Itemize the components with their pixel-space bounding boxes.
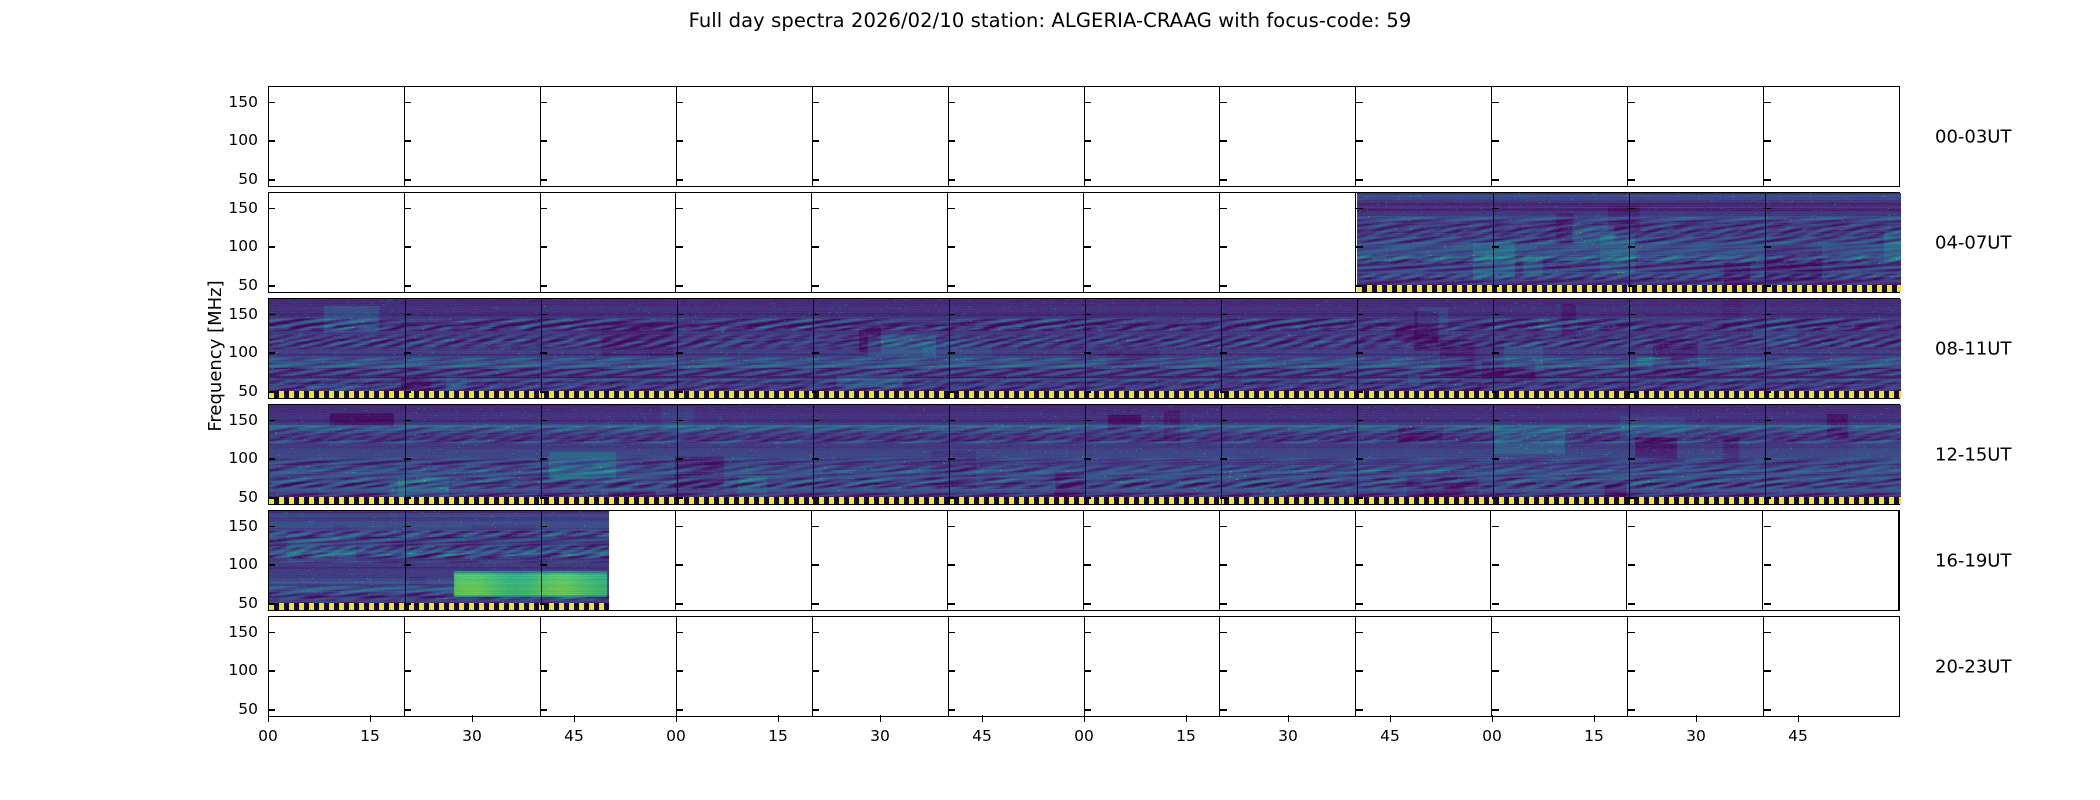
row-label-08-11ut: 08-11UT	[1935, 338, 2011, 359]
y-tick	[1084, 140, 1091, 141]
y-tick	[1628, 285, 1635, 286]
y-tick	[1356, 670, 1363, 671]
x-tick-label: 00	[1482, 727, 1502, 745]
y-tick	[948, 497, 955, 498]
x-tick-label: 30	[462, 727, 482, 745]
y-tick	[404, 420, 411, 421]
x-tick-label: 15	[1176, 727, 1196, 745]
row-label-00-03ut: 00-03UT	[1935, 126, 2011, 147]
y-tick	[1492, 526, 1499, 527]
spectrogram-row-04-07ut[interactable]	[268, 192, 1900, 293]
y-tick	[1084, 632, 1091, 633]
panel[interactable]	[1492, 87, 1628, 186]
y-tick	[1764, 458, 1771, 459]
y-tick	[1084, 526, 1091, 527]
x-tick	[1288, 715, 1289, 722]
y-tick	[1084, 102, 1091, 103]
y-tick	[404, 179, 411, 180]
y-tick	[676, 458, 683, 459]
y-tick	[1220, 246, 1227, 247]
x-tick	[1492, 715, 1493, 722]
y-tick	[540, 391, 547, 392]
y-tick-label: 50	[198, 700, 258, 718]
y-tick	[1628, 179, 1635, 180]
y-tick	[540, 526, 547, 527]
panel[interactable]	[1356, 511, 1492, 610]
y-tick	[1356, 352, 1363, 353]
y-tick	[1356, 140, 1363, 141]
panel[interactable]	[541, 193, 677, 292]
y-tick	[1356, 420, 1363, 421]
y-tick	[1084, 458, 1091, 459]
y-tick	[1628, 352, 1635, 353]
y-tick	[1356, 603, 1363, 604]
x-axis: 00153045001530450015304500153045	[268, 722, 1900, 762]
y-tick	[1628, 420, 1635, 421]
y-tick	[1492, 246, 1499, 247]
y-tick	[1356, 632, 1363, 633]
y-tick	[812, 458, 819, 459]
y-tick	[1764, 102, 1771, 103]
panel[interactable]	[541, 87, 677, 186]
y-tick	[948, 352, 955, 353]
x-tick	[676, 715, 677, 722]
panel[interactable]	[677, 87, 813, 186]
y-tick	[948, 709, 955, 710]
y-tick-label: 50	[198, 594, 258, 612]
y-tick	[540, 497, 547, 498]
status-ribbon	[269, 603, 609, 610]
x-tick	[1084, 715, 1085, 722]
spectrogram-row-00-03ut[interactable]	[268, 86, 1900, 187]
y-tick	[268, 391, 275, 392]
y-tick	[540, 709, 547, 710]
panel[interactable]	[676, 511, 812, 610]
y-tick	[676, 352, 683, 353]
y-tick	[404, 246, 411, 247]
y-tick	[1220, 670, 1227, 671]
y-tick	[1628, 603, 1635, 604]
y-tick	[1356, 458, 1363, 459]
y-tick	[812, 352, 819, 353]
y-tick	[1084, 314, 1091, 315]
y-tick	[1220, 564, 1227, 565]
y-tick	[1492, 458, 1499, 459]
spectrogram-row-12-15ut[interactable]	[268, 404, 1900, 505]
y-tick	[540, 140, 547, 141]
y-tick	[1628, 564, 1635, 565]
y-tick	[676, 526, 683, 527]
x-tick	[982, 715, 983, 722]
y-tick-label: 50	[198, 488, 258, 506]
y-tick-label: 100	[198, 343, 258, 361]
y-tick-label: 150	[198, 411, 258, 429]
y-tick	[1764, 497, 1771, 498]
y-tick	[268, 458, 275, 459]
y-tick	[676, 603, 683, 604]
row-label-16-19ut: 16-19UT	[1935, 550, 2011, 571]
y-tick	[268, 314, 275, 315]
panel[interactable]	[1084, 193, 1220, 292]
panel[interactable]	[1627, 511, 1763, 610]
x-tick-label: 15	[360, 727, 380, 745]
y-tick	[404, 709, 411, 710]
y-tick	[1764, 179, 1771, 180]
panel[interactable]	[949, 87, 1085, 186]
y-tick	[268, 670, 275, 671]
y-tick	[268, 208, 275, 209]
y-tick	[1356, 246, 1363, 247]
row-label-12-15ut: 12-15UT	[1935, 444, 2011, 465]
panel[interactable]	[541, 617, 677, 716]
y-tick	[1628, 458, 1635, 459]
y-tick	[1628, 526, 1635, 527]
y-tick	[676, 140, 683, 141]
y-tick	[1220, 179, 1227, 180]
y-tick	[540, 564, 547, 565]
panel[interactable]	[1763, 511, 1899, 610]
y-tick	[1220, 420, 1227, 421]
y-tick	[1220, 526, 1227, 527]
panel[interactable]	[269, 617, 405, 716]
y-tick	[268, 285, 275, 286]
y-tick	[948, 603, 955, 604]
y-tick-label: 100	[198, 449, 258, 467]
y-tick	[812, 497, 819, 498]
y-tick	[1220, 314, 1227, 315]
y-tick	[676, 670, 683, 671]
y-tick	[1492, 603, 1499, 604]
y-tick	[1764, 352, 1771, 353]
y-tick	[1220, 603, 1227, 604]
panel[interactable]	[676, 193, 812, 292]
y-tick	[1356, 526, 1363, 527]
panel[interactable]	[405, 617, 541, 716]
y-tick	[812, 709, 819, 710]
y-tick	[948, 285, 955, 286]
x-tick-label: 30	[870, 727, 890, 745]
y-tick	[676, 632, 683, 633]
y-tick	[948, 420, 955, 421]
spectrogram-figure: Full day spectra 2026/02/10 station: ALG…	[0, 0, 2100, 800]
panel[interactable]	[1220, 511, 1356, 610]
y-tick	[1356, 102, 1363, 103]
x-tick	[778, 715, 779, 722]
x-tick-label: 45	[1788, 727, 1808, 745]
y-tick	[540, 458, 547, 459]
y-tick	[1492, 564, 1499, 565]
x-tick	[1186, 715, 1187, 722]
y-tick	[1492, 632, 1499, 633]
y-tick	[812, 246, 819, 247]
y-tick	[540, 632, 547, 633]
x-tick-label: 30	[1686, 727, 1706, 745]
y-tick	[948, 458, 955, 459]
y-tick	[948, 632, 955, 633]
y-tick	[1628, 246, 1635, 247]
y-tick	[1628, 632, 1635, 633]
y-tick	[1220, 285, 1227, 286]
panel[interactable]	[1085, 87, 1221, 186]
y-tick	[1220, 391, 1227, 392]
y-tick-label: 100	[198, 237, 258, 255]
y-tick-label: 50	[198, 382, 258, 400]
y-tick	[948, 246, 955, 247]
y-tick	[268, 420, 275, 421]
y-tick	[1628, 670, 1635, 671]
y-tick	[268, 632, 275, 633]
y-tick	[404, 102, 411, 103]
y-tick-label: 150	[198, 623, 258, 641]
y-tick	[676, 179, 683, 180]
y-tick-label: 150	[198, 199, 258, 217]
y-tick	[1356, 208, 1363, 209]
panel[interactable]	[812, 193, 948, 292]
y-tick	[404, 208, 411, 209]
y-tick	[404, 603, 411, 604]
y-tick	[1220, 140, 1227, 141]
y-tick	[812, 632, 819, 633]
y-tick	[812, 102, 819, 103]
y-tick	[1084, 420, 1091, 421]
y-tick	[268, 140, 275, 141]
y-tick	[1628, 208, 1635, 209]
panel[interactable]	[1492, 617, 1628, 716]
y-tick	[268, 352, 275, 353]
panel[interactable]	[1491, 511, 1627, 610]
y-tick	[948, 140, 955, 141]
y-tick	[540, 246, 547, 247]
y-tick	[948, 208, 955, 209]
panel[interactable]	[1085, 617, 1221, 716]
y-tick	[948, 314, 955, 315]
y-tick	[812, 140, 819, 141]
y-tick-label: 150	[198, 305, 258, 323]
y-tick	[812, 179, 819, 180]
y-tick	[268, 497, 275, 498]
y-tick	[812, 420, 819, 421]
y-tick	[404, 285, 411, 286]
y-tick	[540, 603, 547, 604]
y-tick	[540, 102, 547, 103]
y-tick	[404, 526, 411, 527]
y-tick	[1084, 246, 1091, 247]
y-tick	[268, 102, 275, 103]
y-tick	[1628, 497, 1635, 498]
y-tick	[948, 179, 955, 180]
y-tick	[1764, 564, 1771, 565]
panel[interactable]	[1764, 617, 1899, 716]
y-tick	[812, 285, 819, 286]
y-tick-label: 100	[198, 131, 258, 149]
y-tick	[268, 603, 275, 604]
panel[interactable]	[677, 617, 813, 716]
x-tick-label: 15	[768, 727, 788, 745]
y-tick-label: 50	[198, 170, 258, 188]
panel[interactable]	[813, 87, 949, 186]
y-tick	[1220, 709, 1227, 710]
y-tick	[540, 670, 547, 671]
panel[interactable]	[1764, 87, 1899, 186]
y-tick-label: 100	[198, 661, 258, 679]
y-tick	[1764, 246, 1771, 247]
panel[interactable]	[948, 193, 1084, 292]
y-tick	[812, 670, 819, 671]
x-tick-label: 45	[972, 727, 992, 745]
y-tick	[1492, 420, 1499, 421]
spectrogram-canvas	[269, 511, 609, 609]
x-tick-label: 00	[1074, 727, 1094, 745]
y-tick	[676, 246, 683, 247]
spectrogram-row-08-11ut[interactable]	[268, 298, 1900, 399]
y-tick	[812, 564, 819, 565]
y-tick	[1220, 632, 1227, 633]
y-tick	[676, 709, 683, 710]
x-tick-label: 30	[1278, 727, 1298, 745]
y-tick	[1492, 391, 1499, 392]
y-tick	[1084, 391, 1091, 392]
x-tick-label: 45	[564, 727, 584, 745]
x-tick	[1696, 715, 1697, 722]
row-label-20-23ut: 20-23UT	[1935, 656, 2011, 677]
y-tick	[1220, 102, 1227, 103]
spectrogram-data	[269, 511, 609, 610]
x-tick	[1390, 715, 1391, 722]
y-tick	[948, 102, 955, 103]
y-tick	[1628, 314, 1635, 315]
panel[interactable]	[1084, 511, 1220, 610]
y-tick	[540, 208, 547, 209]
y-tick	[1764, 603, 1771, 604]
y-tick	[676, 497, 683, 498]
y-tick	[1492, 208, 1499, 209]
y-tick	[1764, 709, 1771, 710]
y-tick	[676, 102, 683, 103]
x-tick	[574, 715, 575, 722]
y-tick	[540, 352, 547, 353]
y-tick	[676, 564, 683, 565]
y-tick	[1628, 709, 1635, 710]
y-tick	[404, 632, 411, 633]
y-tick	[948, 526, 955, 527]
y-tick-label: 100	[198, 555, 258, 573]
y-tick	[540, 285, 547, 286]
y-tick	[1764, 420, 1771, 421]
y-tick	[1356, 314, 1363, 315]
panel[interactable]	[813, 617, 949, 716]
y-tick	[812, 603, 819, 604]
y-tick	[540, 179, 547, 180]
y-tick	[404, 564, 411, 565]
y-tick	[1492, 670, 1499, 671]
panel[interactable]	[1628, 617, 1764, 716]
y-tick	[1084, 603, 1091, 604]
y-tick	[1356, 391, 1363, 392]
y-tick	[540, 314, 547, 315]
y-tick	[404, 670, 411, 671]
x-tick-label: 45	[1380, 727, 1400, 745]
x-tick	[472, 715, 473, 722]
y-tick	[812, 208, 819, 209]
y-tick	[1764, 208, 1771, 209]
y-tick	[1084, 179, 1091, 180]
y-tick	[1492, 102, 1499, 103]
y-tick	[948, 564, 955, 565]
y-tick	[1220, 208, 1227, 209]
y-tick	[1628, 140, 1635, 141]
y-tick	[1492, 709, 1499, 710]
panel[interactable]	[1220, 617, 1356, 716]
y-tick	[1764, 670, 1771, 671]
panel[interactable]	[1220, 87, 1356, 186]
y-tick	[1084, 709, 1091, 710]
y-tick-label: 50	[198, 276, 258, 294]
x-tick-label: 00	[666, 727, 686, 745]
y-tick	[268, 564, 275, 565]
y-tick	[812, 526, 819, 527]
x-tick	[1798, 715, 1799, 722]
y-tick-label: 150	[198, 93, 258, 111]
y-tick	[1764, 140, 1771, 141]
x-tick	[268, 715, 269, 722]
y-tick	[1220, 497, 1227, 498]
y-tick-label: 150	[198, 517, 258, 535]
y-tick	[404, 352, 411, 353]
y-tick	[1356, 709, 1363, 710]
y-tick	[1220, 352, 1227, 353]
panel[interactable]	[949, 617, 1085, 716]
panel[interactable]	[269, 87, 405, 186]
spectrogram-row-16-19ut[interactable]	[268, 510, 1900, 611]
panel[interactable]	[812, 511, 948, 610]
panel[interactable]	[1356, 617, 1492, 716]
y-tick	[1764, 391, 1771, 392]
y-tick	[1220, 458, 1227, 459]
y-tick	[540, 420, 547, 421]
y-tick	[1492, 352, 1499, 353]
y-tick	[1492, 140, 1499, 141]
y-tick	[1764, 526, 1771, 527]
x-tick-label: 15	[1584, 727, 1604, 745]
panel[interactable]	[405, 193, 541, 292]
y-tick	[1764, 285, 1771, 286]
y-tick	[1764, 314, 1771, 315]
panel[interactable]	[1220, 193, 1356, 292]
row-label-04-07ut: 04-07UT	[1935, 232, 2011, 253]
panel[interactable]	[948, 511, 1084, 610]
y-tick	[676, 285, 683, 286]
panel[interactable]	[405, 87, 541, 186]
panel[interactable]	[269, 193, 405, 292]
y-tick	[812, 314, 819, 315]
y-tick	[676, 420, 683, 421]
y-tick	[1492, 179, 1499, 180]
y-tick	[268, 246, 275, 247]
y-tick	[404, 140, 411, 141]
y-tick	[1084, 208, 1091, 209]
y-tick	[1492, 497, 1499, 498]
y-tick	[676, 391, 683, 392]
x-tick-label: 00	[258, 727, 278, 745]
y-tick	[1084, 670, 1091, 671]
y-tick	[1628, 391, 1635, 392]
panel[interactable]	[1356, 87, 1492, 186]
spectrogram-row-20-23ut[interactable]	[268, 616, 1900, 717]
x-tick	[880, 715, 881, 722]
y-tick	[1084, 285, 1091, 286]
y-tick	[812, 391, 819, 392]
panel[interactable]	[1628, 87, 1764, 186]
